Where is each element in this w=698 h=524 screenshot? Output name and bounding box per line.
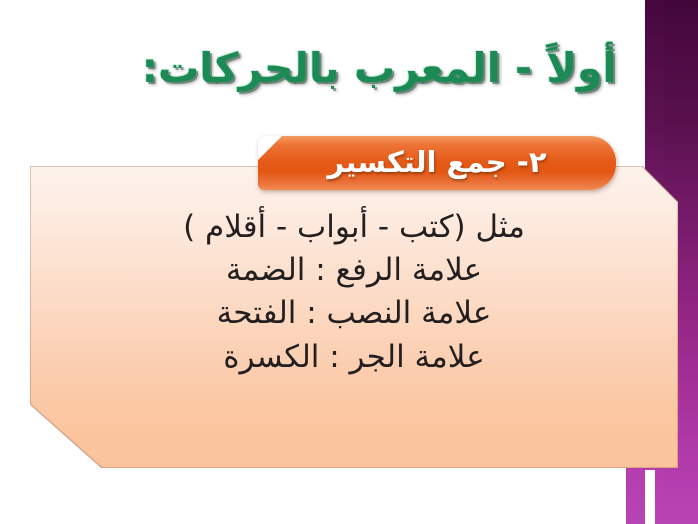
content-card bbox=[30, 166, 678, 468]
slide-heading-text: أولاً - المعرب بالحركات: bbox=[142, 44, 617, 92]
purple-band-top-notch bbox=[626, 0, 645, 178]
purple-band-bottom-notch bbox=[645, 470, 655, 524]
slide-heading: أولاً - المعرب بالحركات: bbox=[96, 28, 662, 108]
slide-canvas: أولاً - المعرب بالحركات: مثل (كتب - أبوا… bbox=[0, 0, 698, 524]
section-banner-corner-cut bbox=[258, 136, 282, 160]
section-banner-title: ٢- جمع التكسير bbox=[328, 145, 547, 181]
section-banner: ٢- جمع التكسير bbox=[258, 136, 616, 190]
